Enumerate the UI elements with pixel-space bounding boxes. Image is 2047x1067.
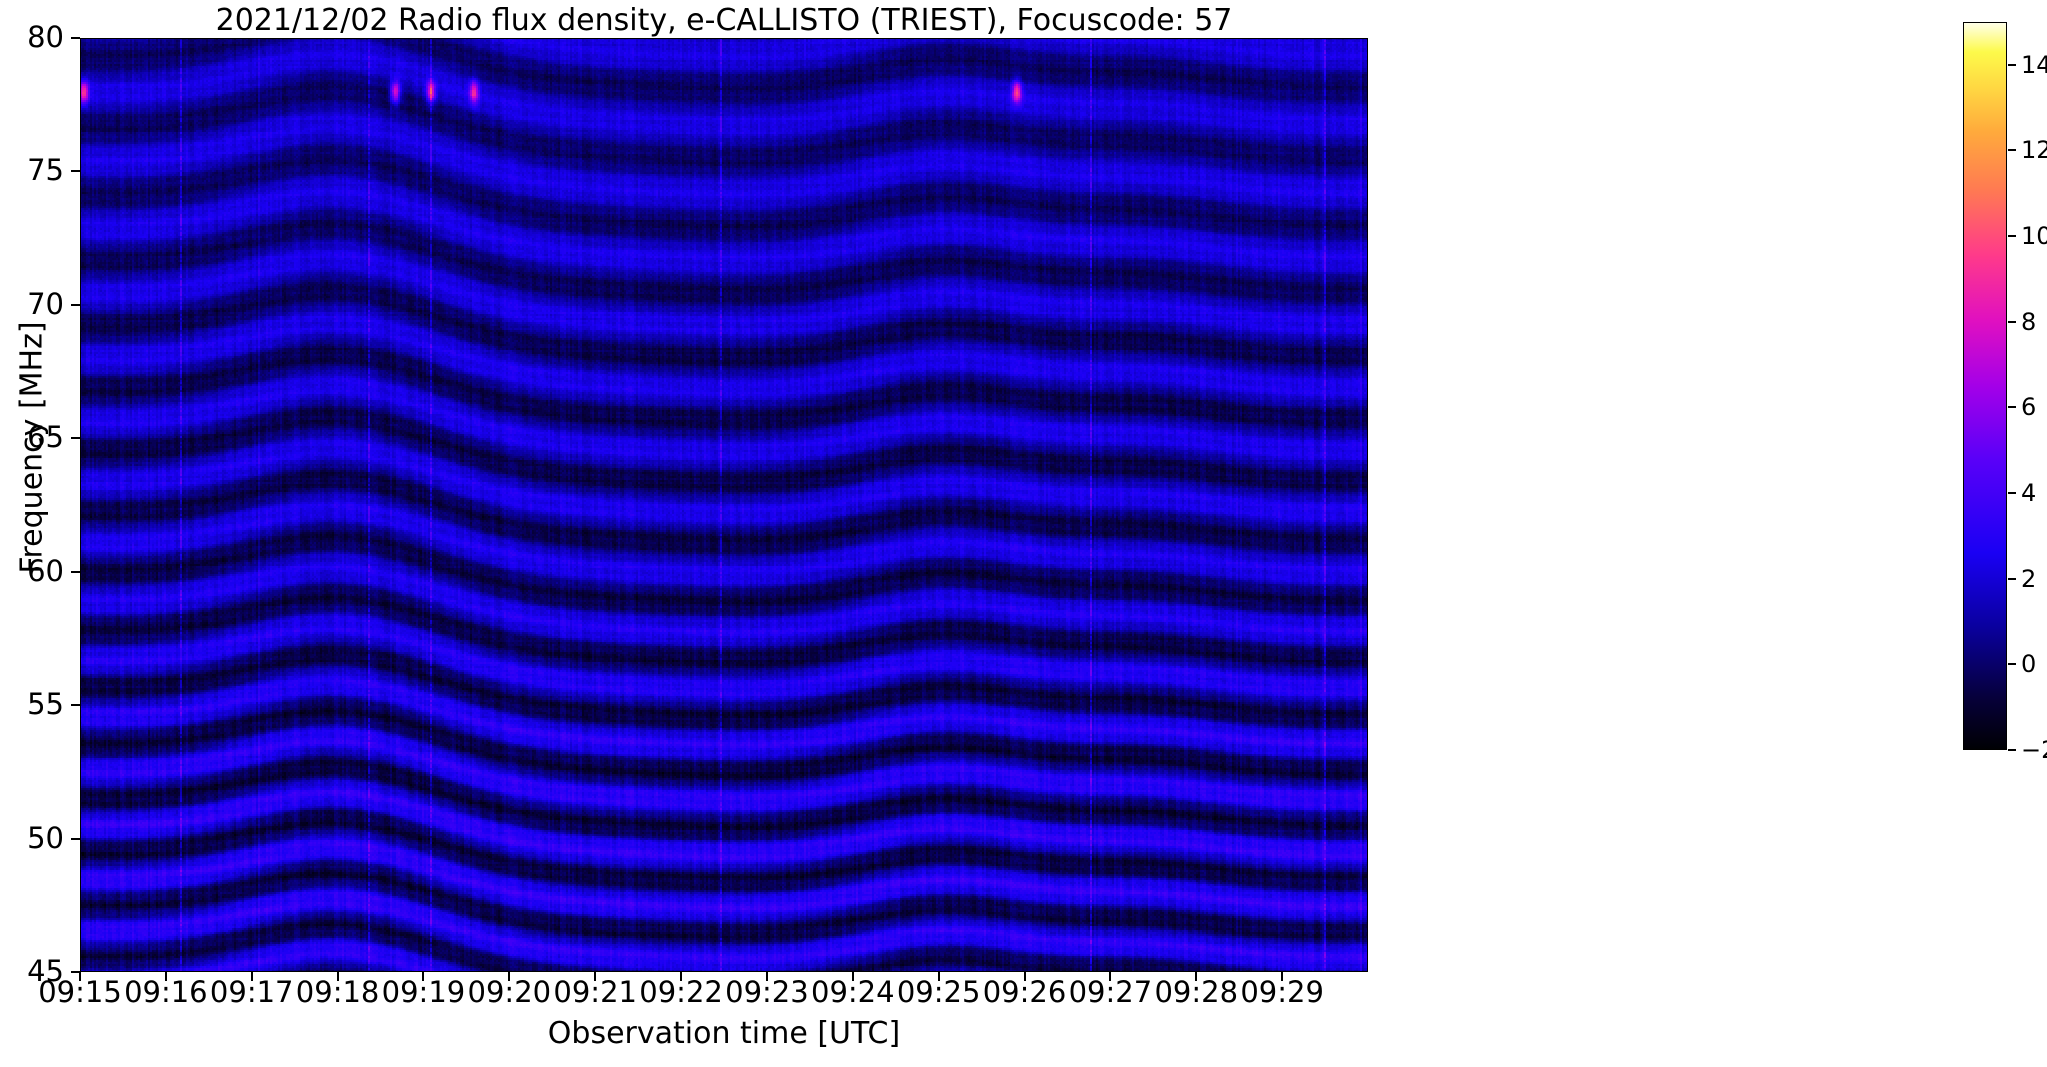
colorbar-tick-mark <box>2008 64 2016 66</box>
y-tick-mark <box>71 37 80 39</box>
colorbar-tick-label: 0 <box>2021 652 2036 676</box>
y-tick-mark <box>71 571 80 573</box>
y-tick-mark <box>71 437 80 439</box>
y-tick-mark <box>71 304 80 306</box>
y-tick-mark <box>71 838 80 840</box>
y-tick-mark <box>71 170 80 172</box>
colorbar-tick-mark <box>2008 235 2016 237</box>
colorbar-tick-mark <box>2008 749 2016 751</box>
colorbar-tick-mark <box>2008 492 2016 494</box>
colorbar-tick-mark <box>2008 149 2016 151</box>
spectrogram-image <box>80 38 1368 972</box>
colorbar-tick-mark <box>2008 406 2016 408</box>
colorbar-tick-label: 14 <box>2021 53 2047 77</box>
x-axis-label: Observation time [UTC] <box>80 1016 1368 1051</box>
colorbar-tick-label: 12 <box>2021 138 2047 162</box>
colorbar-tick-mark <box>2008 663 2016 665</box>
x-tick-label: 09:29 <box>1222 978 1342 1007</box>
y-tick-label: 55 <box>0 690 64 719</box>
spectrogram-figure: 2021/12/02 Radio flux density, e-CALLIST… <box>0 0 2047 1067</box>
y-tick-label: 80 <box>0 23 64 52</box>
colorbar-tick-label: 8 <box>2021 310 2036 334</box>
colorbar-tick-label: 4 <box>2021 481 2036 505</box>
y-axis-label: Frequency [MHz] <box>15 238 50 658</box>
colorbar-tick-label: −2 <box>2021 738 2047 762</box>
y-tick-mark <box>71 704 80 706</box>
spectrogram-plot-area[interactable] <box>80 38 1368 972</box>
page-title: 2021/12/02 Radio flux density, e-CALLIST… <box>80 4 1368 38</box>
colorbar-tick-label: 2 <box>2021 567 2036 591</box>
y-tick-label: 50 <box>0 824 64 853</box>
colorbar-tick-label: 10 <box>2021 224 2047 248</box>
colorbar-tick-mark <box>2008 578 2016 580</box>
colorbar[interactable] <box>1963 22 2007 750</box>
y-tick-label: 75 <box>0 156 64 185</box>
colorbar-tick-label: 6 <box>2021 395 2036 419</box>
colorbar-tick-mark <box>2008 321 2016 323</box>
